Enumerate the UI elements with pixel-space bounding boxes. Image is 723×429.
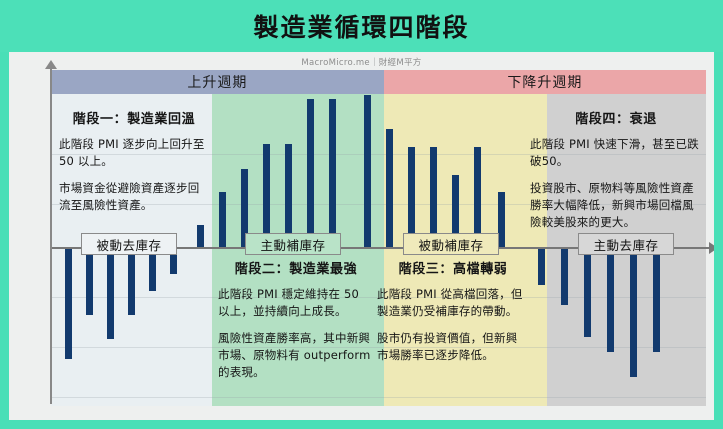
inventory-chip-passive-destock: 被動去庫存 — [81, 233, 177, 255]
bar — [197, 225, 204, 247]
bar — [430, 147, 437, 247]
bar — [538, 247, 545, 285]
bar — [128, 247, 135, 315]
bar — [219, 192, 226, 247]
inventory-chip-active-destock: 主動去庫存 — [578, 233, 674, 255]
quadrant-1-body-1: 此階段 PMI 逐步向上回升至 50 以上。 — [59, 136, 209, 169]
bar — [65, 247, 72, 359]
chart-canvas: MacroMicro.me｜財經M平方 MacroMicro 上升週期 下降升 — [9, 52, 714, 420]
bar — [307, 99, 314, 247]
infographic-root: 製造業循環四階段 MacroMicro.me｜財經M平方 MacroMicro — [0, 0, 723, 429]
bar — [329, 99, 336, 247]
source-credit: MacroMicro.me｜財經M平方 — [9, 56, 714, 68]
quadrant-2-body-1: 此階段 PMI 穩定維持在 50 以上，並持續向上成長。 — [218, 286, 374, 319]
bar — [364, 95, 371, 247]
inventory-chip-active-restock: 主動補庫存 — [245, 233, 341, 255]
bar — [630, 247, 637, 377]
quadrant-3-heading: 階段三：高檔轉弱 — [377, 258, 529, 277]
bar — [408, 147, 415, 247]
bar — [561, 247, 568, 305]
bar — [653, 247, 660, 352]
x-axis-arrow-icon — [709, 242, 714, 254]
quadrant-4-heading: 階段四：衰退 — [530, 108, 702, 127]
quadrant-3-body-1: 此階段 PMI 從高檔回落，但製造業仍受補庫存的帶動。 — [377, 286, 529, 319]
quadrant-text-4: 階段四：衰退 此階段 PMI 快速下滑，甚至已跌破50。 投資股市、原物料等風險… — [530, 108, 702, 230]
quadrant-1-heading: 階段一：製造業回溫 — [59, 108, 209, 127]
cycle-segment-up: 上升週期 — [51, 70, 384, 94]
title-bar: 製造業循環四階段 — [0, 0, 723, 52]
bar — [285, 144, 292, 247]
bar — [474, 147, 481, 247]
quadrant-2-body-2: 風險性資產勝率高，其中新興市場、原物料有 outperform 的表現。 — [218, 330, 374, 380]
page-title: 製造業循環四階段 — [253, 8, 469, 44]
bar — [263, 144, 270, 247]
quadrant-text-1: 階段一：製造業回溫 此階段 PMI 逐步向上回升至 50 以上。 市場資金從避險… — [59, 108, 209, 214]
quadrant-4-body-1: 此階段 PMI 快速下滑，甚至已跌破50。 — [530, 136, 702, 169]
bar — [107, 247, 114, 339]
bar — [386, 129, 393, 247]
quadrant-4-body-2: 投資股市、原物料等風險性資產勝率大幅降低，新興市場回檔風險較美股來的更大。 — [530, 180, 702, 230]
bar — [498, 192, 505, 247]
quadrant-3-body-2: 股市仍有投資價值，但新興市場勝率已逐步降低。 — [377, 330, 529, 363]
cycle-band: 上升週期 下降升週期 — [51, 70, 706, 94]
quadrant-text-3: 階段三：高檔轉弱 此階段 PMI 從高檔回落，但製造業仍受補庫存的帶動。 股市仍… — [377, 258, 529, 364]
quadrant-text-2: 階段二：製造業最強 此階段 PMI 穩定維持在 50 以上，並持續向上成長。 風… — [218, 258, 374, 380]
bar — [584, 247, 591, 337]
quadrant-1-body-2: 市場資金從避險資產逐步回流至風險性資產。 — [59, 180, 209, 213]
y-axis-arrow-icon — [45, 60, 57, 69]
inventory-chip-passive-restock: 被動補庫存 — [403, 233, 499, 255]
cycle-segment-down: 下降升週期 — [384, 70, 706, 94]
y-axis-line — [50, 68, 52, 404]
bar — [86, 247, 93, 315]
quadrant-2-heading: 階段二：製造業最強 — [218, 258, 374, 277]
bar — [607, 247, 614, 352]
